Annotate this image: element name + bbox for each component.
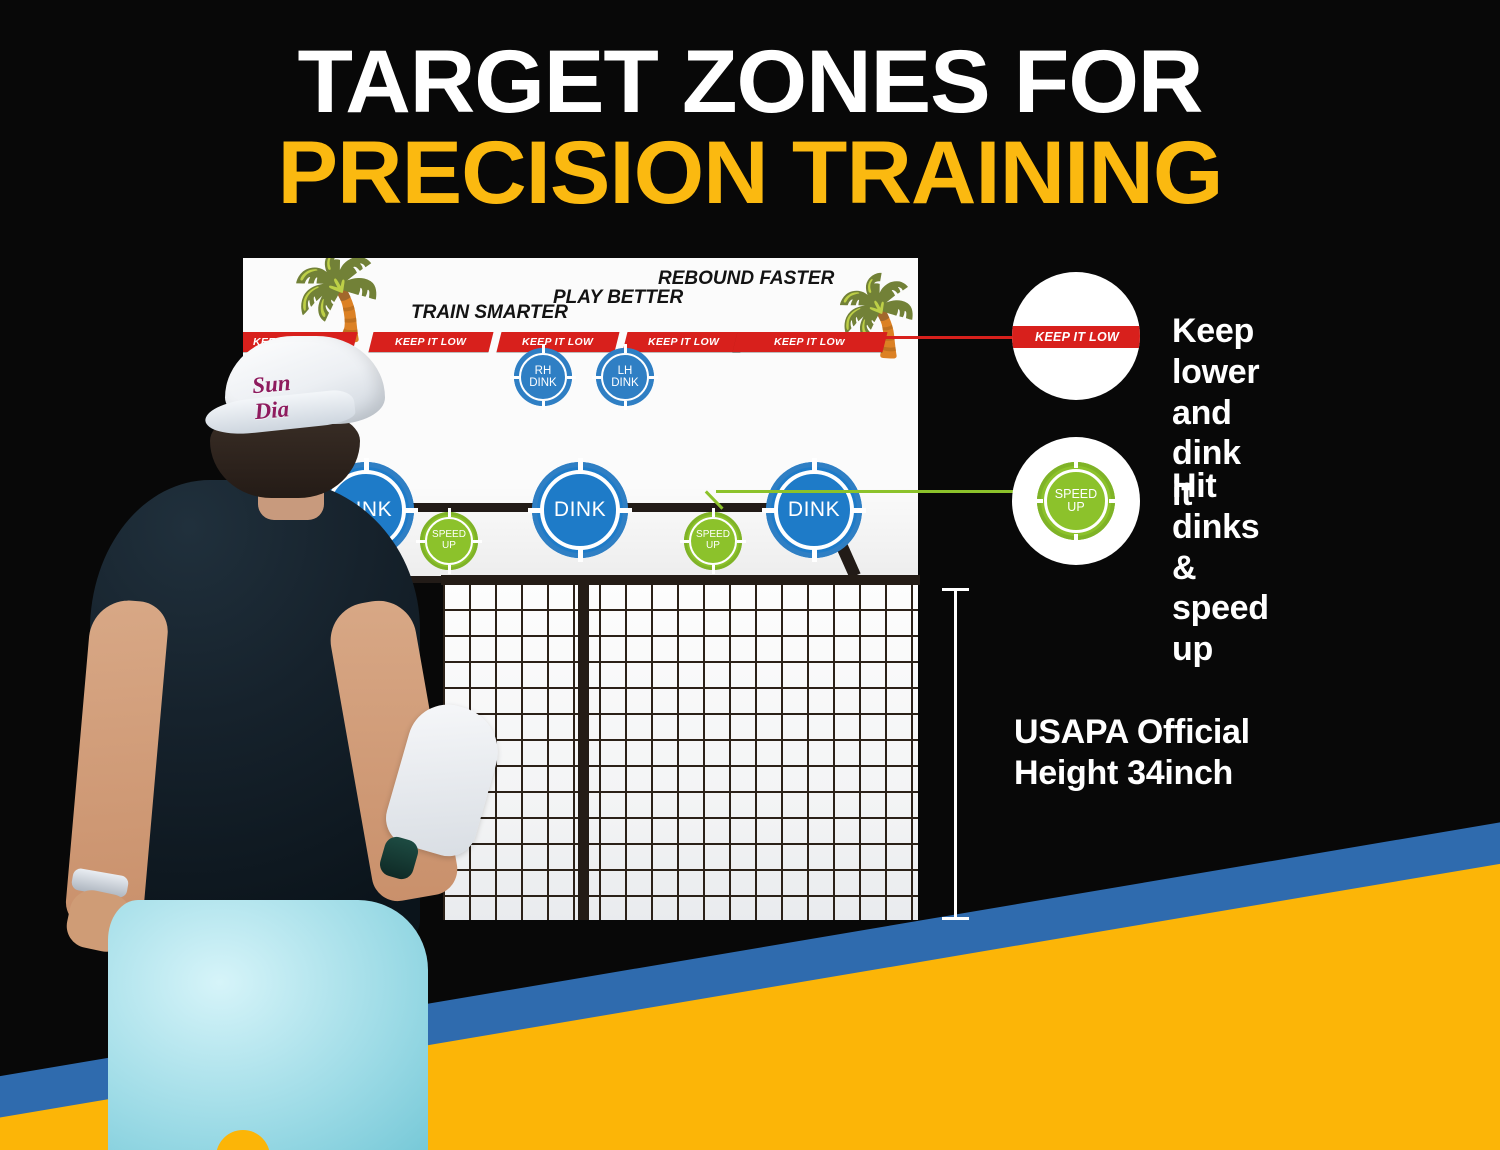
keep-it-low-bar[interactable]: KEEP IT LOW	[623, 332, 746, 352]
page-title-line1: TARGET ZONES FOR	[0, 36, 1500, 127]
crosshair-tick-right	[851, 508, 866, 513]
infographic-canvas: TARGET ZONES FOR PRECISION TRAINING 🌴 🌴 …	[0, 0, 1500, 1150]
crosshair-tick-left	[528, 508, 543, 513]
keep-it-low-bar[interactable]: KEEP IT LOW	[733, 332, 888, 352]
crosshair-tick-bottom	[542, 401, 545, 410]
crosshair-tick-right	[617, 508, 632, 513]
dimension-cap-bottom	[942, 917, 969, 920]
callout-text-hit-dinks: Hit dinks & speed up	[1172, 466, 1269, 670]
target-lh-dink[interactable]: LH DINK	[596, 348, 654, 406]
target-rh-dink[interactable]: RH DINK	[514, 348, 572, 406]
crosshair-tick-top	[712, 508, 715, 517]
crosshair-tick-bottom	[812, 547, 817, 562]
crosshair-tick-top	[624, 344, 627, 353]
crosshair-tick-right	[567, 376, 576, 379]
leader-line-speed-up	[716, 490, 1056, 493]
crosshair-tick-bottom	[712, 565, 715, 574]
height-annotation: USAPA Official Height 34inch	[1014, 712, 1250, 794]
target-speed-up-right[interactable]: SPEED UP	[684, 512, 742, 570]
crosshair-tick-top	[1074, 457, 1078, 468]
crosshair-tick-bottom	[1074, 534, 1078, 545]
target-label: LH DINK	[611, 365, 638, 389]
crosshair-tick-left	[680, 540, 689, 543]
keep-it-low-badge-label: KEEP IT LOW	[1035, 330, 1119, 344]
page-title-line2: PRECISION TRAINING	[0, 127, 1500, 218]
target-dink-right[interactable]: DINK	[766, 462, 862, 558]
crosshair-tick-top	[542, 344, 545, 353]
heading-block: TARGET ZONES FOR PRECISION TRAINING	[0, 36, 1500, 218]
crosshair-tick-left	[1032, 499, 1043, 503]
keep-it-low-label: KEEP IT LOW	[522, 336, 593, 348]
net-center-post	[578, 585, 589, 920]
player-shorts	[108, 900, 428, 1150]
callout-bubble-keep-it-low[interactable]: KEEP IT LOW	[1012, 272, 1140, 400]
speed-up-badge-label: SPEED UP	[1055, 488, 1097, 515]
speed-up-badge: SPEED UP	[1037, 462, 1115, 540]
keep-it-low-label: KEEP IT LOW	[648, 336, 719, 348]
crosshair-tick-left	[592, 376, 601, 379]
crosshair-tick-right	[649, 376, 658, 379]
board-slogan-rebound-faster: REBOUND FASTER	[658, 268, 834, 290]
player-photo: Sun Dia	[0, 300, 520, 1150]
crosshair-tick-left	[762, 508, 777, 513]
crosshair-tick-bottom	[578, 547, 583, 562]
crosshair-tick-bottom	[624, 401, 627, 410]
target-label: DINK	[554, 499, 606, 521]
crosshair-tick-top	[812, 458, 817, 473]
board-slogan-play-better: PLAY BETTER	[553, 287, 683, 309]
target-label: RH DINK	[529, 365, 556, 389]
keep-it-low-label: KEEP IT LOW	[774, 336, 845, 348]
crosshair-tick-top	[578, 458, 583, 473]
target-dink-center[interactable]: DINK	[532, 462, 628, 558]
target-label: SPEED UP	[696, 530, 730, 551]
crosshair-tick-right	[737, 540, 746, 543]
callout-bubble-speed-up[interactable]: SPEED UP	[1012, 437, 1140, 565]
dimension-line	[954, 588, 957, 920]
target-label: DINK	[788, 499, 840, 521]
keep-it-low-badge: KEEP IT LOW	[1012, 326, 1140, 348]
crosshair-tick-right	[1109, 499, 1120, 503]
